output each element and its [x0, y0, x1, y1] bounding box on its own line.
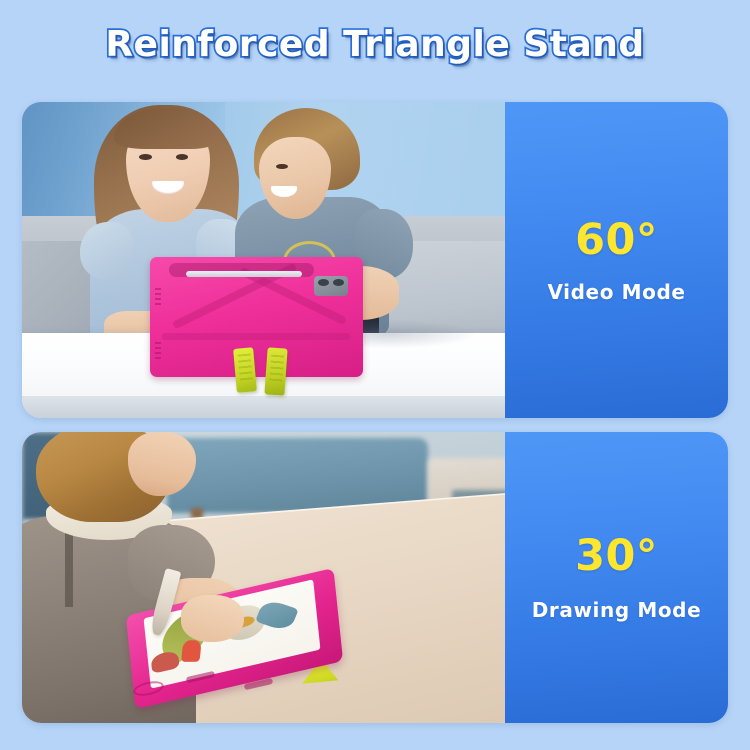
info-panel-drawing-mode: 30° Drawing Mode	[505, 432, 728, 723]
stylus-holder	[186, 271, 302, 277]
triangle-kickstand-right	[264, 348, 288, 397]
case-vent-dots-top	[155, 288, 161, 307]
table-edge	[22, 396, 505, 418]
angle-value-drawing: 30°	[575, 535, 658, 578]
page-title: Reinforced Triangle Stand	[105, 24, 644, 65]
case-vent-dots-bottom	[155, 342, 161, 361]
feature-card-video-mode: 60° Video Mode	[22, 102, 728, 418]
mode-label-drawing: Drawing Mode	[532, 600, 702, 620]
product-photo-drawing-mode	[22, 432, 505, 723]
case-bottom-rib	[162, 333, 350, 340]
camera-lens-1	[318, 279, 329, 286]
toddler-hand	[181, 595, 244, 642]
drawing-petal-red	[181, 641, 202, 663]
angle-value-video: 60°	[575, 219, 658, 262]
toddler-dress-strap	[65, 525, 73, 606]
camera-lens-2	[333, 279, 344, 286]
page-header: Reinforced Triangle Stand	[0, 24, 750, 65]
mode-label-video: Video Mode	[547, 282, 685, 302]
feature-card-drawing-mode: 30° Drawing Mode	[22, 432, 728, 723]
product-photo-video-mode	[22, 102, 505, 418]
info-panel-video-mode: 60° Video Mode	[505, 102, 728, 418]
triangle-kickstand-left	[233, 348, 257, 394]
drawing-blossom	[151, 650, 180, 674]
girl-sleeve-left	[80, 222, 133, 279]
